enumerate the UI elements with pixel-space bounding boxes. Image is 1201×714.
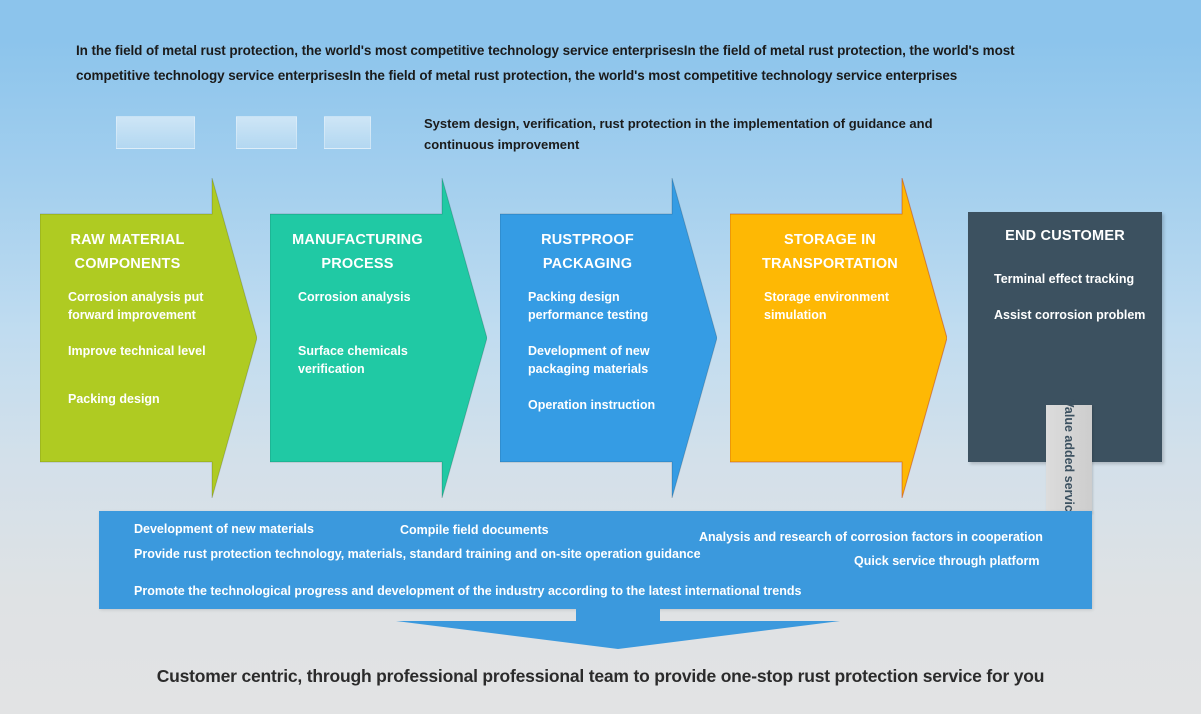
stage-2-bullets: Corrosion analysis Surface chemicals ver… bbox=[270, 276, 445, 378]
value-added-service-label: Value added service bbox=[1062, 399, 1076, 519]
value-added-service-tag[interactable]: Value added service bbox=[1046, 405, 1092, 513]
stage-4-bullets: Storage environment simulation bbox=[730, 276, 930, 324]
service-item-2: Compile field documents bbox=[400, 523, 549, 537]
stage-2-title: MANUFACTURING PROCESS bbox=[270, 214, 445, 276]
stage-1-bullets: Corrosion analysis put forward improveme… bbox=[40, 276, 215, 408]
stage-1-title: RAW MATERIAL COMPONENTS bbox=[40, 214, 215, 276]
system-design-note: System design, verification, rust protec… bbox=[424, 113, 984, 155]
down-arrow-icon bbox=[396, 609, 840, 651]
stage-2-title-line-1: MANUFACTURING bbox=[276, 228, 439, 252]
stage-4-bullet-1: Storage environment simulation bbox=[764, 288, 912, 324]
diagram-canvas: In the field of metal rust protection, t… bbox=[0, 0, 1201, 714]
end-customer-title: END CUSTOMER bbox=[968, 212, 1162, 248]
stage-2-title-line-2: PROCESS bbox=[276, 252, 439, 276]
service-item-1: Development of new materials bbox=[134, 522, 314, 536]
service-item-5: Quick service through platform bbox=[854, 554, 1039, 568]
stage-raw-material-components[interactable]: RAW MATERIAL COMPONENTS Corrosion analys… bbox=[40, 178, 257, 498]
stage-2-bullet-1: Corrosion analysis bbox=[298, 288, 441, 306]
service-item-3: Analysis and research of corrosion facto… bbox=[699, 530, 1043, 544]
decorative-tile-1 bbox=[116, 116, 195, 149]
end-customer-bullets: Terminal effect tracking Assist corrosio… bbox=[968, 248, 1162, 324]
footer-caption: Customer centric, through professional p… bbox=[0, 666, 1201, 687]
stage-1-content: RAW MATERIAL COMPONENTS Corrosion analys… bbox=[40, 214, 215, 426]
stage-3-bullet-1: Packing design performance testing bbox=[528, 288, 671, 324]
services-bar: Development of new materials Compile fie… bbox=[99, 511, 1092, 609]
stage-1-title-line-1: RAW MATERIAL bbox=[46, 228, 209, 252]
stage-2-content: MANUFACTURING PROCESS Corrosion analysis… bbox=[270, 214, 445, 396]
stage-3-bullet-2: Development of new packaging materials bbox=[528, 342, 671, 378]
decorative-tile-3 bbox=[324, 116, 371, 149]
stage-1-bullet-1: Corrosion analysis put forward improveme… bbox=[68, 288, 211, 324]
end-customer-bullet-2: Assist corrosion problem bbox=[994, 306, 1156, 324]
end-customer-bullet-1: Terminal effect tracking bbox=[994, 270, 1156, 288]
stage-3-bullet-3: Operation instruction bbox=[528, 396, 671, 414]
stage-4-content: STORAGE IN TRANSPORTATION Storage enviro… bbox=[730, 214, 930, 342]
stage-1-title-line-2: COMPONENTS bbox=[46, 252, 209, 276]
page-title: In the field of metal rust protection, t… bbox=[76, 38, 1072, 88]
stage-1-bullet-2: Improve technical level bbox=[68, 342, 211, 360]
stage-4-title-line-1: STORAGE IN bbox=[736, 228, 924, 252]
stage-3-title: RUSTPROOF PACKAGING bbox=[500, 214, 675, 276]
stage-2-bullet-2: Surface chemicals verification bbox=[298, 342, 441, 378]
service-item-4: Provide rust protection technology, mate… bbox=[134, 547, 701, 561]
stage-3-content: RUSTPROOF PACKAGING Packing design perfo… bbox=[500, 214, 675, 432]
stage-1-bullet-3: Packing design bbox=[68, 390, 211, 408]
stage-rustproof-packaging[interactable]: RUSTPROOF PACKAGING Packing design perfo… bbox=[500, 178, 717, 498]
decorative-tile-2 bbox=[236, 116, 297, 149]
stage-3-bullets: Packing design performance testing Devel… bbox=[500, 276, 675, 414]
stage-4-title-line-2: TRANSPORTATION bbox=[736, 252, 924, 276]
stage-storage-in-transportation[interactable]: STORAGE IN TRANSPORTATION Storage enviro… bbox=[730, 178, 947, 498]
stage-3-title-line-1: RUSTPROOF bbox=[506, 228, 669, 252]
stage-4-title: STORAGE IN TRANSPORTATION bbox=[730, 214, 930, 276]
stage-manufacturing-process[interactable]: MANUFACTURING PROCESS Corrosion analysis… bbox=[270, 178, 487, 498]
service-item-6: Promote the technological progress and d… bbox=[134, 584, 801, 598]
stage-3-title-line-2: PACKAGING bbox=[506, 252, 669, 276]
